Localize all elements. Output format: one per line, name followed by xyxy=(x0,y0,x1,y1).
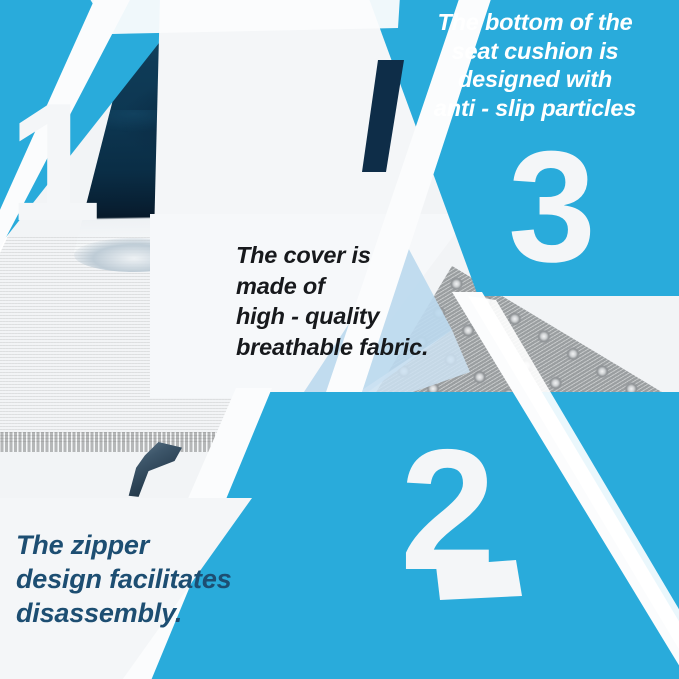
caption-cover-fabric: The cover is made of high - quality brea… xyxy=(236,240,488,362)
step-number-1: 1 xyxy=(8,78,97,246)
caption-anti-slip: The bottom of the seat cushion is design… xyxy=(392,8,678,123)
top-white-strip xyxy=(88,0,400,34)
step-number-2: 2 xyxy=(400,424,496,596)
caption-zipper: The zipper design facilitates disassembl… xyxy=(16,528,346,630)
infographic-canvas: 1 3 2 The bottom of the seat cushion is … xyxy=(0,0,679,679)
step-number-3: 3 xyxy=(508,128,596,286)
